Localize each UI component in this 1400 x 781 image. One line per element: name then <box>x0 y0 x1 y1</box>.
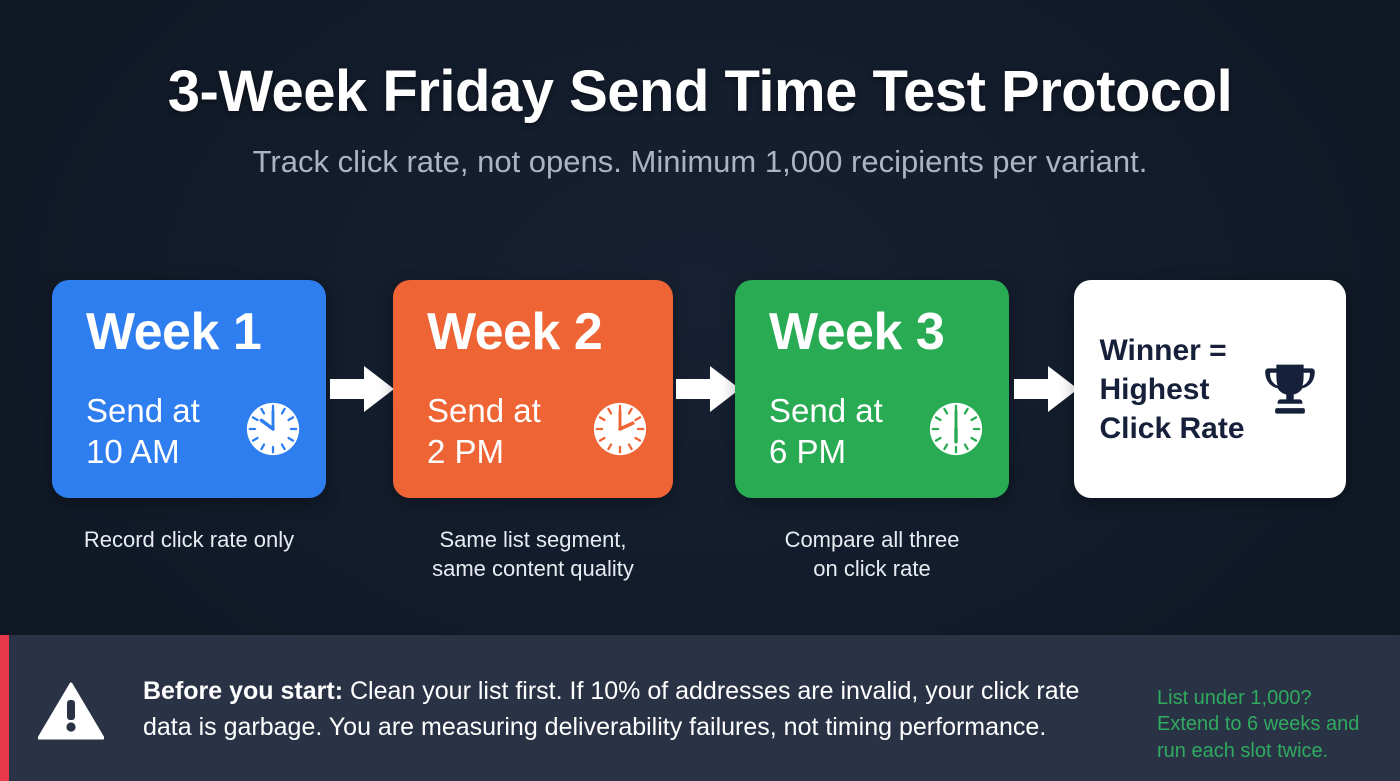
page-title: 3-Week Friday Send Time Test Protocol <box>0 62 1400 123</box>
clock-icon <box>244 400 302 463</box>
clock-icon <box>927 400 985 463</box>
week-3-label: Week 3 <box>769 306 981 358</box>
warning-triangle-icon <box>38 682 104 745</box>
page-subtitle: Track click rate, not opens. Minimum 1,0… <box>0 145 1400 179</box>
week-2-caption: Same list segment, same content quality <box>393 526 673 583</box>
trophy-icon <box>1259 356 1321 423</box>
week-3-caption: Compare all three on click rate <box>735 526 1009 583</box>
small-list-note: List under 1,000? Extend to 6 weeks and … <box>1157 685 1387 764</box>
winner-label: Winner = Highest Click Rate <box>1099 331 1244 448</box>
winner-card: Winner = Highest Click Rate <box>1074 280 1346 498</box>
accent-bar <box>0 635 9 781</box>
week-3-send-time: Send at 6 PM <box>769 390 883 473</box>
arrow-right-icon <box>1014 363 1078 415</box>
clock-icon <box>591 400 649 463</box>
week-3-card: Week 3 Send at 6 PM <box>735 280 1009 498</box>
warning-text: Before you start: Clean your list first.… <box>143 674 1133 745</box>
header: 3-Week Friday Send Time Test Protocol Tr… <box>0 62 1400 179</box>
infographic-canvas: 3-Week Friday Send Time Test Protocol Tr… <box>0 0 1400 781</box>
week-1-send-time: Send at 10 AM <box>86 390 200 473</box>
week-2-send-time: Send at 2 PM <box>427 390 541 473</box>
footer-warning-bar: Before you start: Clean your list first.… <box>0 635 1400 781</box>
week-2-card: Week 2 Send at 2 PM <box>393 280 673 498</box>
week-1-card: Week 1 Send at 10 AM <box>52 280 326 498</box>
arrow-right-icon <box>676 363 740 415</box>
warning-lead: Before you start: <box>143 677 343 705</box>
week-1-caption: Record click rate only <box>52 526 326 555</box>
protocol-flow: Week 1 Send at 10 AM <box>0 280 1400 505</box>
week-2-label: Week 2 <box>427 306 645 358</box>
week-1-label: Week 1 <box>86 306 298 358</box>
arrow-right-icon <box>330 363 394 415</box>
